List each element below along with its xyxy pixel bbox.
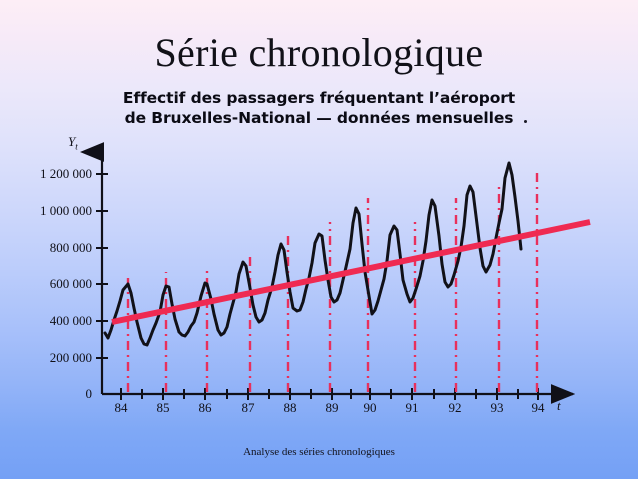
x-tick-label: 86 [191,400,219,416]
x-tick-label: 94 [524,400,552,416]
y-tick-label: 800 000 [0,240,92,256]
x-tick-label: 89 [318,400,346,416]
slide-footer: Analyse des séries chronologiques [0,446,638,458]
y-tick-label: 200 000 [0,350,92,366]
x-tick-label: 84 [107,400,135,416]
x-tick-label: 87 [234,400,262,416]
x-tick-label: 88 [276,400,304,416]
y-tick-label: 1 200 000 [0,166,92,182]
x-tick-label: 91 [398,400,426,416]
y-tick-label: 1 000 000 [0,203,92,219]
y-tick-label: 600 000 [0,276,92,292]
y-tick-label: 0 [0,386,92,402]
x-tick-label: 93 [483,400,511,416]
x-tick-label: 90 [356,400,384,416]
slide-canvas: Série chronologique Effectif des passage… [0,0,638,479]
x-tick-label: 85 [149,400,177,416]
y-axis-label: Yt [68,134,78,152]
x-axis-label: t [557,398,561,414]
x-tick-label: 92 [441,400,469,416]
y-tick-label: 400 000 [0,313,92,329]
passenger-series-line [105,163,521,345]
